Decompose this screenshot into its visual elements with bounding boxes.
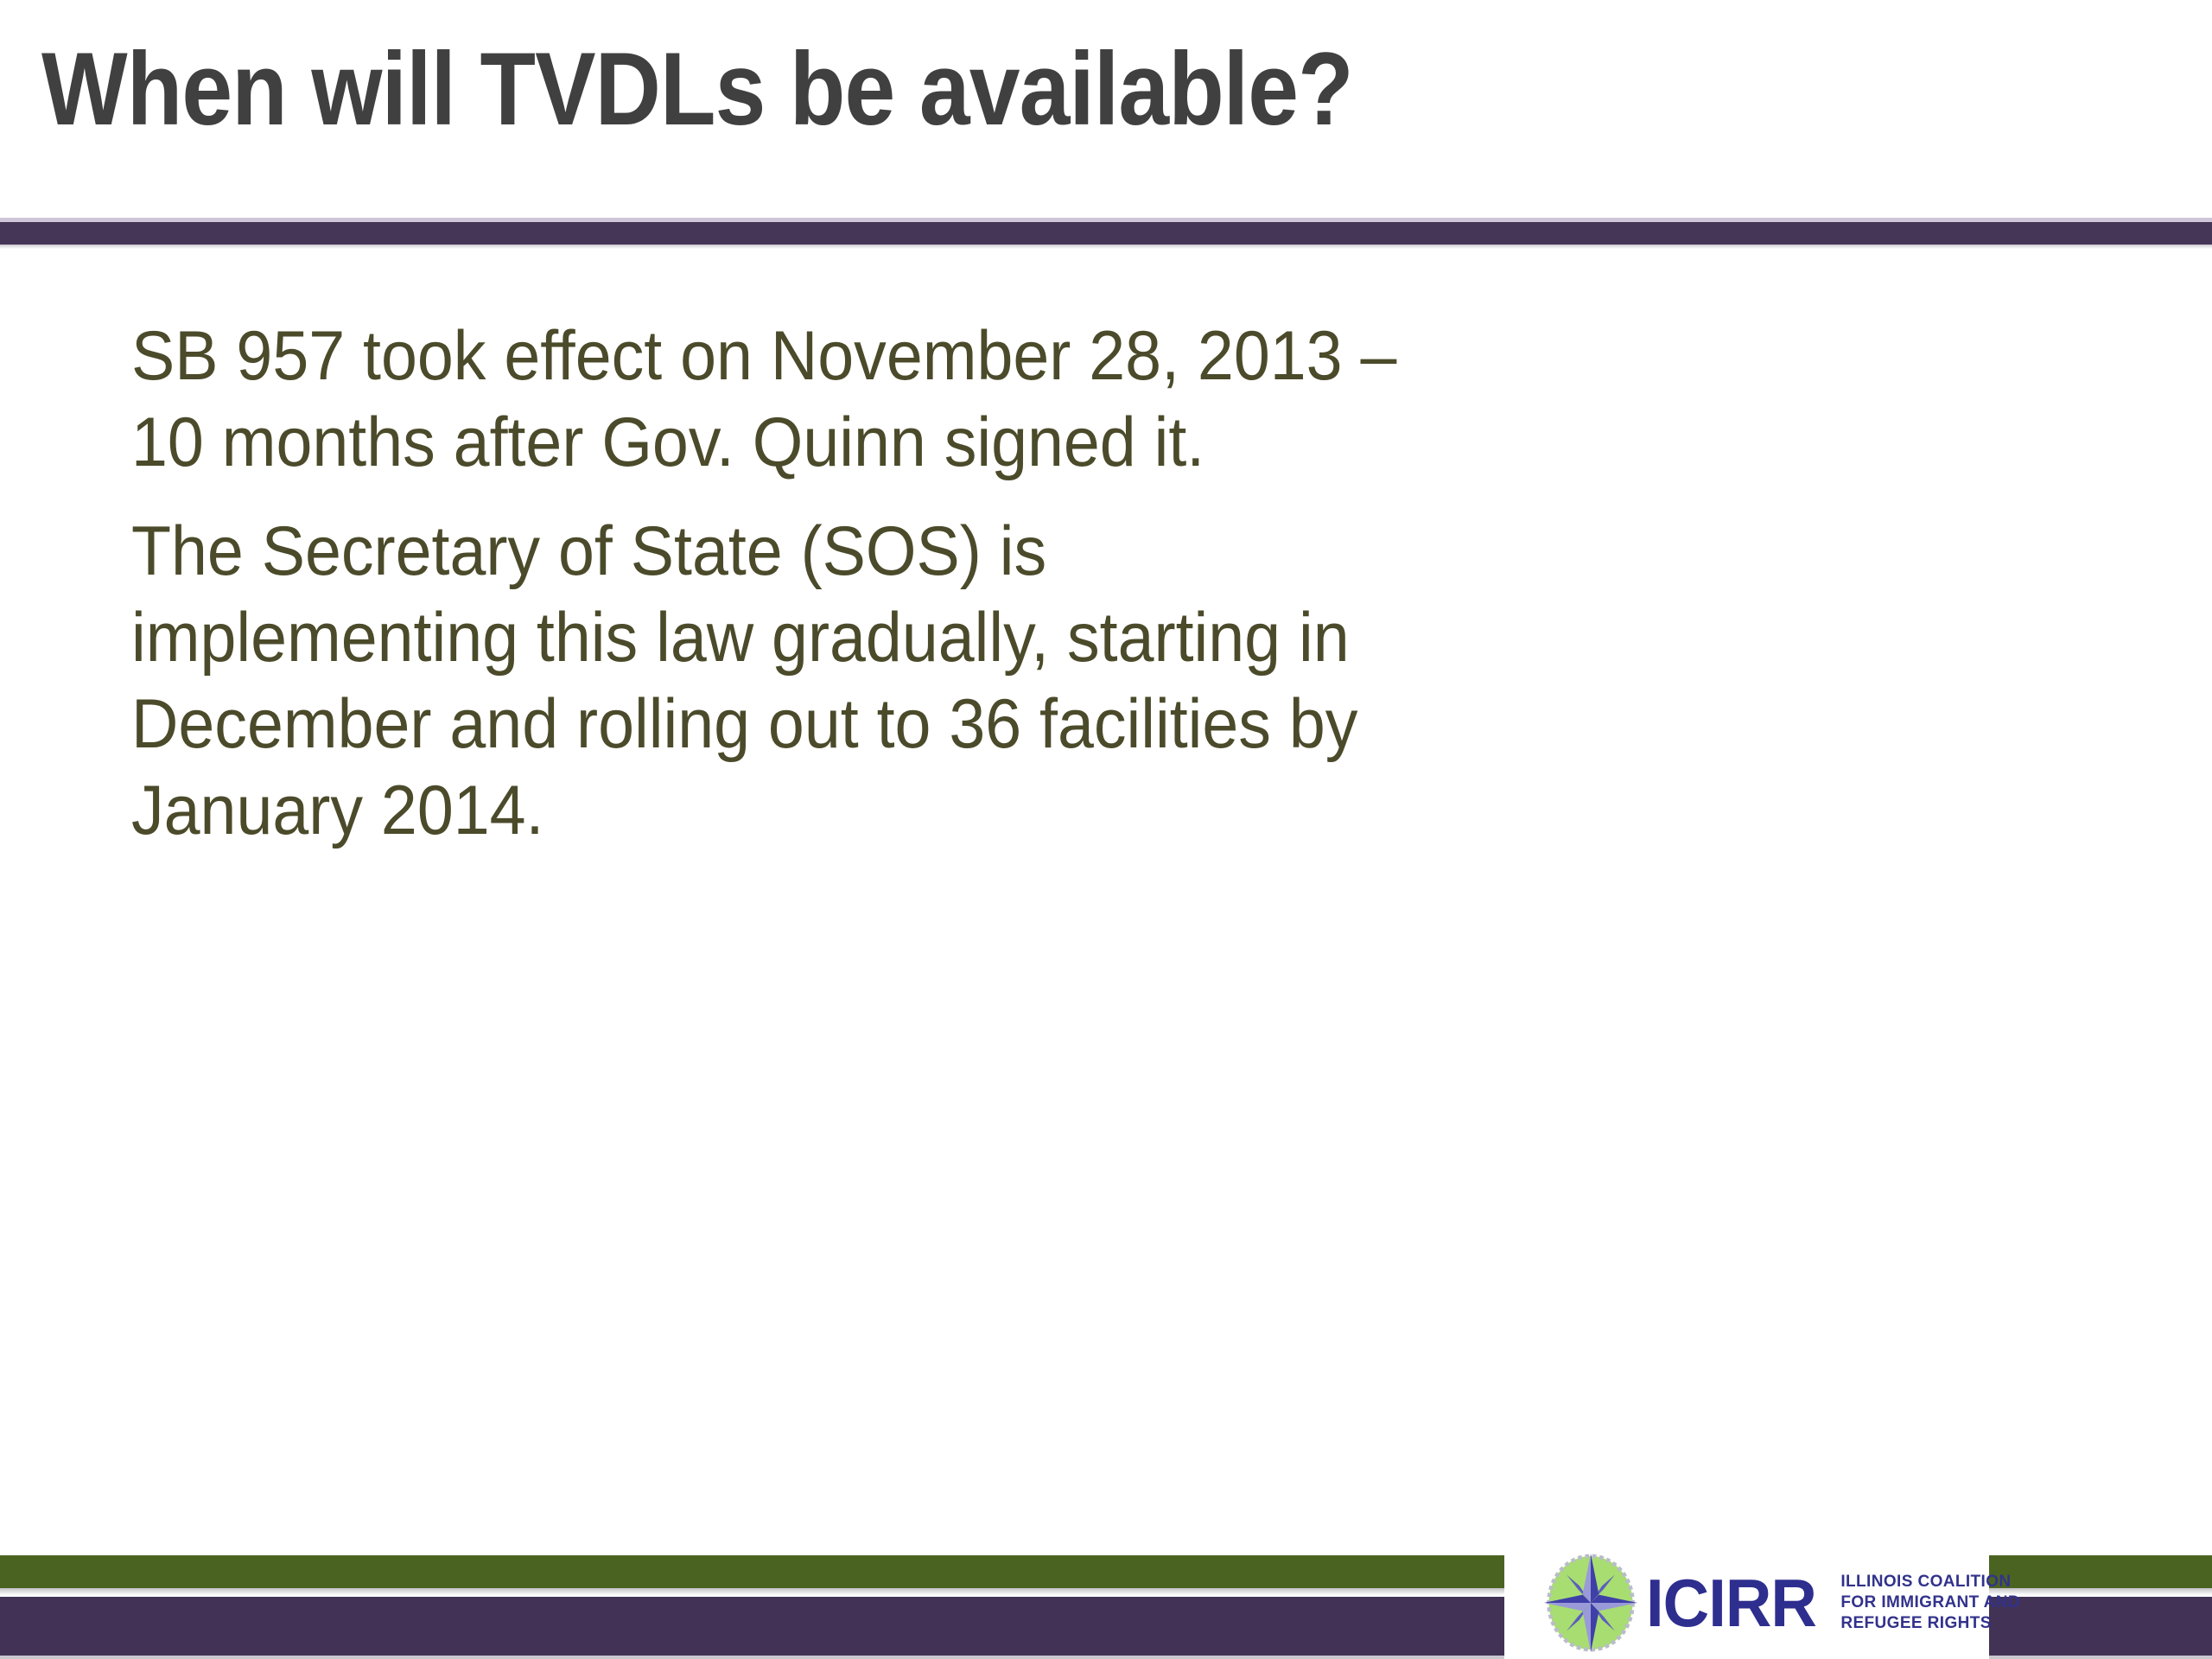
icirr-tagline: ILLINOIS COALITION FOR IMMIGRANT AND REF… bbox=[1840, 1572, 2020, 1634]
body-line: January 2014. bbox=[131, 767, 2004, 854]
page-title: When will TVDLs be available? bbox=[41, 24, 1897, 154]
icirr-tagline-line: ILLINOIS COALITION bbox=[1840, 1572, 2020, 1592]
body-paragraph-1: SB 957 took effect on November 28, 2013 … bbox=[131, 313, 2004, 486]
footer-green-bar-sheen-left bbox=[0, 1588, 1504, 1595]
slide-canvas: When will TVDLs be available? SB 957 too… bbox=[0, 0, 2212, 1659]
title-divider bbox=[0, 218, 2212, 249]
icirr-wordmark: ICIRR bbox=[1646, 1569, 1816, 1637]
icirr-tagline-line: FOR IMMIGRANT AND bbox=[1840, 1592, 2020, 1613]
body-line: The Secretary of State (SOS) is bbox=[131, 508, 2004, 594]
icirr-logo: ICIRR ILLINOIS COALITION FOR IMMIGRANT A… bbox=[1504, 1547, 1989, 1659]
body-line: implementing this law gradually, startin… bbox=[131, 594, 2004, 681]
body-line: 10 months after Gov. Quinn signed it. bbox=[131, 399, 2004, 486]
footer-green-bar-left bbox=[0, 1555, 1504, 1588]
body-content: SB 957 took effect on November 28, 2013 … bbox=[131, 313, 2145, 866]
icirr-tagline-line: REFUGEE RIGHTS bbox=[1840, 1613, 2020, 1634]
title-area: When will TVDLs be available? bbox=[0, 0, 2212, 223]
body-paragraph-2: The Secretary of State (SOS) is implemen… bbox=[131, 508, 2004, 854]
body-line: December and rolling out to 36 facilitie… bbox=[131, 681, 2004, 767]
compass-rose-icon bbox=[1542, 1552, 1639, 1654]
footer-purple-bar-sheen-right bbox=[1989, 1656, 2212, 1659]
body-line: SB 957 took effect on November 28, 2013 … bbox=[131, 313, 2004, 399]
footer-green-bar-sheen-right bbox=[1989, 1588, 2212, 1595]
title-divider-bar bbox=[0, 222, 2212, 245]
footer-purple-bar-sheen-left bbox=[0, 1656, 1504, 1659]
footer-purple-bar-left bbox=[0, 1597, 1504, 1656]
footer-green-bar-right bbox=[1989, 1555, 2212, 1588]
title-divider-shadow bbox=[0, 245, 2212, 249]
slide-footer: ICIRR ILLINOIS COALITION FOR IMMIGRANT A… bbox=[0, 1538, 2212, 1659]
footer-purple-bar-right bbox=[1989, 1597, 2212, 1656]
